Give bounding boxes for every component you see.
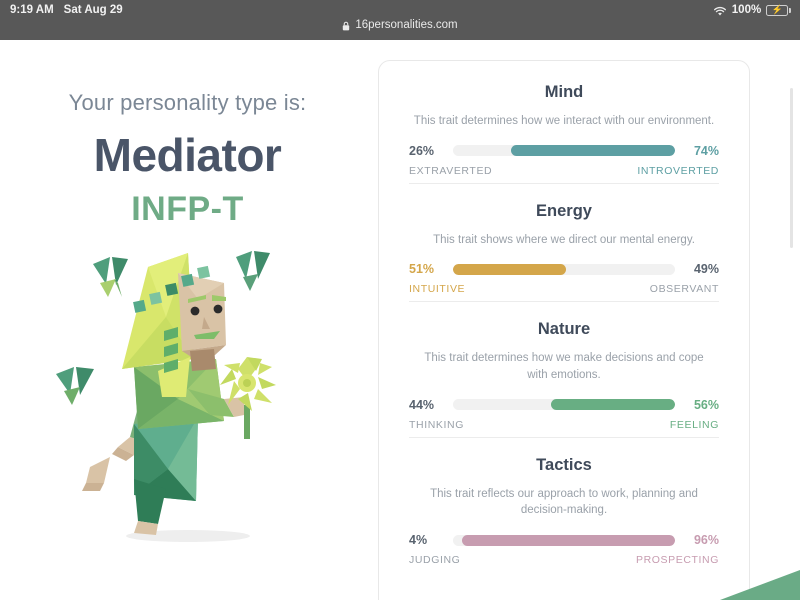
type-intro-label: Your personality type is: (69, 90, 307, 116)
trait-energy: Energy This trait shows where we direct … (409, 183, 719, 302)
trait-bar-row: 26% 74% (409, 144, 719, 158)
trait-nature: Nature This trait determines how we make… (409, 301, 719, 436)
page-title: Mediator (94, 128, 282, 182)
trait-mind: Mind This trait determines how we intera… (409, 83, 719, 183)
trait-left-label: EXTRAVERTED (409, 165, 492, 177)
ios-status-bar: 9:19 AM Sat Aug 29 100% ⚡ (0, 0, 800, 40)
butterfly-right-top (236, 251, 270, 291)
personality-summary-panel: Your personality type is: Mediator INFP-… (0, 40, 375, 600)
trait-bar-track (453, 399, 675, 410)
trait-description: This trait determines how we make decisi… (413, 350, 715, 383)
trait-bar-track (453, 535, 675, 546)
trait-bar-fill (453, 264, 566, 275)
trait-bar-row: 44% 56% (409, 398, 719, 412)
corner-decoration (680, 530, 800, 600)
trait-description: This trait shows where we direct our men… (413, 232, 715, 249)
trait-left-label: INTUITIVE (409, 283, 465, 295)
page-scrollbar[interactable] (790, 88, 793, 248)
trait-bar-fill (551, 399, 675, 410)
trait-left-percent: 26% (409, 144, 443, 158)
address-bar-url: 16personalities.com (355, 19, 457, 31)
trait-left-percent: 4% (409, 533, 443, 547)
trait-right-percent: 56% (685, 398, 719, 412)
trait-bar-fill (511, 145, 675, 156)
trait-title: Energy (409, 202, 719, 221)
trait-title: Nature (409, 320, 719, 339)
trait-title: Mind (409, 83, 719, 102)
trait-right-percent: 74% (685, 144, 719, 158)
type-code-label: INFP-T (131, 190, 244, 229)
trait-bar-track (453, 264, 675, 275)
trait-right-label: FEELING (670, 419, 719, 431)
trait-left-label: JUDGING (409, 554, 460, 566)
mediator-character-illustration (38, 239, 338, 554)
butterfly-left-top (93, 257, 128, 297)
trait-right-label: OBSERVANT (650, 283, 719, 295)
lock-icon (342, 21, 350, 31)
trait-tactics: Tactics This trait reflects our approach… (409, 437, 719, 572)
page-content: Your personality type is: Mediator INFP-… (0, 40, 800, 600)
trait-left-percent: 51% (409, 262, 443, 276)
trait-labels: JUDGING PROSPECTING (409, 554, 719, 566)
trait-right-percent: 49% (685, 262, 719, 276)
trait-labels: THINKING FEELING (409, 419, 719, 431)
butterfly-left-lower (56, 367, 94, 405)
trait-description: This trait determines how we interact wi… (413, 113, 715, 130)
trait-labels: INTUITIVE OBSERVANT (409, 283, 719, 295)
trait-right-label: INTROVERTED (637, 165, 719, 177)
trait-bar-track (453, 145, 675, 156)
trait-bar-row: 51% 49% (409, 262, 719, 276)
traits-card: Mind This trait determines how we intera… (378, 60, 750, 600)
trait-description: This trait reflects our approach to work… (413, 486, 715, 519)
trait-left-label: THINKING (409, 419, 464, 431)
trait-bar-fill (462, 535, 675, 546)
trait-title: Tactics (409, 456, 719, 475)
trait-left-percent: 44% (409, 398, 443, 412)
hair-stripes (164, 327, 178, 373)
app-root: 9:19 AM Sat Aug 29 100% ⚡ (0, 0, 800, 600)
trait-bar-row: 4% 96% (409, 533, 719, 547)
trait-labels: EXTRAVERTED INTROVERTED (409, 165, 719, 177)
browser-address-bar[interactable]: 16personalities.com (0, 14, 800, 36)
